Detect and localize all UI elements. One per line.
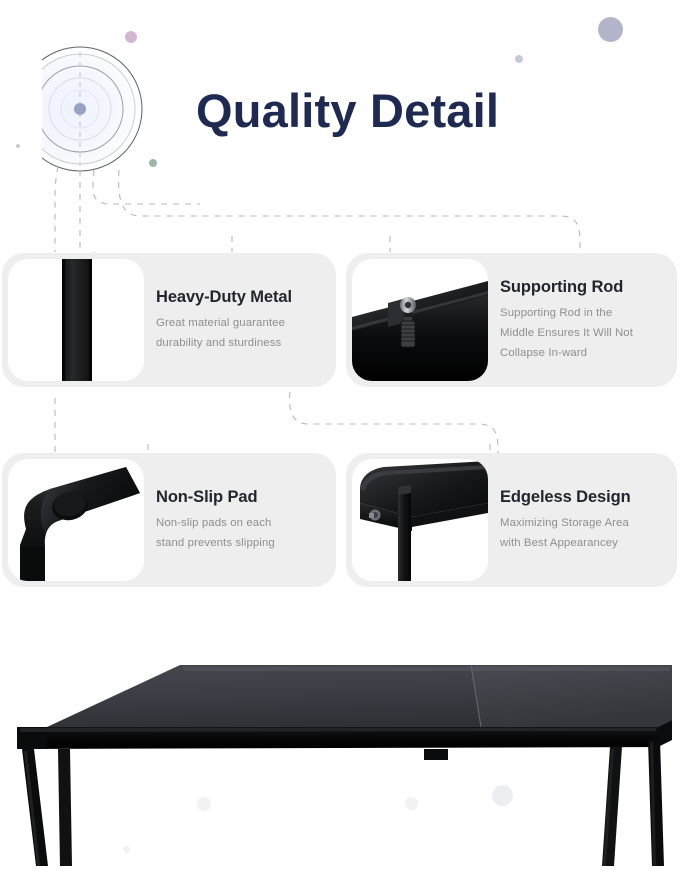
card-description: Non-slip pads on each stand prevents sli…: [156, 513, 328, 553]
card-title: Supporting Rod: [500, 277, 669, 298]
card-title: Edgeless Design: [500, 487, 669, 508]
edgeless-corner-photo: [352, 459, 488, 581]
card-text-block: Heavy-Duty Metal Great material guarante…: [144, 287, 336, 353]
non-slip-pad-photo: [8, 459, 144, 581]
feature-card-heavy-duty-metal[interactable]: Heavy-Duty Metal Great material guarante…: [2, 253, 336, 387]
card-title: Non-Slip Pad: [156, 487, 328, 508]
card-text-block: Supporting Rod Supporting Rod in the Mid…: [488, 277, 677, 363]
card-desc-line: Non-slip pads on each: [156, 513, 328, 533]
card-desc-line: Supporting Rod in the: [500, 303, 669, 323]
card-title: Heavy-Duty Metal: [156, 287, 328, 308]
metal-leg-bar-photo: [8, 259, 144, 381]
card-description: Maximizing Storage Area with Best Appear…: [500, 513, 669, 553]
card-desc-line: Maximizing Storage Area: [500, 513, 669, 533]
card-description: Great material guarantee durability and …: [156, 313, 328, 353]
card-description: Supporting Rod in the Middle Ensures It …: [500, 303, 669, 363]
black-computer-desk-photo: [0, 608, 679, 866]
feature-card-edgeless-design[interactable]: Edgeless Design Maximizing Storage Area …: [346, 453, 677, 587]
card-text-block: Non-Slip Pad Non-slip pads on each stand…: [144, 487, 336, 553]
feature-card-supporting-rod[interactable]: Supporting Rod Supporting Rod in the Mid…: [346, 253, 677, 387]
supporting-rod-photo: [352, 259, 488, 381]
card-desc-line: Middle Ensures It Will Not: [500, 323, 669, 343]
card-text-block: Edgeless Design Maximizing Storage Area …: [488, 487, 677, 553]
card-desc-line: Collapse In-ward: [500, 343, 669, 363]
card-desc-line: durability and sturdiness: [156, 333, 328, 353]
card-desc-line: with Best Appearancey: [500, 533, 669, 553]
feature-card-non-slip-pad[interactable]: Non-Slip Pad Non-slip pads on each stand…: [2, 453, 336, 587]
card-desc-line: Great material guarantee: [156, 313, 328, 333]
card-desc-line: stand prevents slipping: [156, 533, 328, 553]
